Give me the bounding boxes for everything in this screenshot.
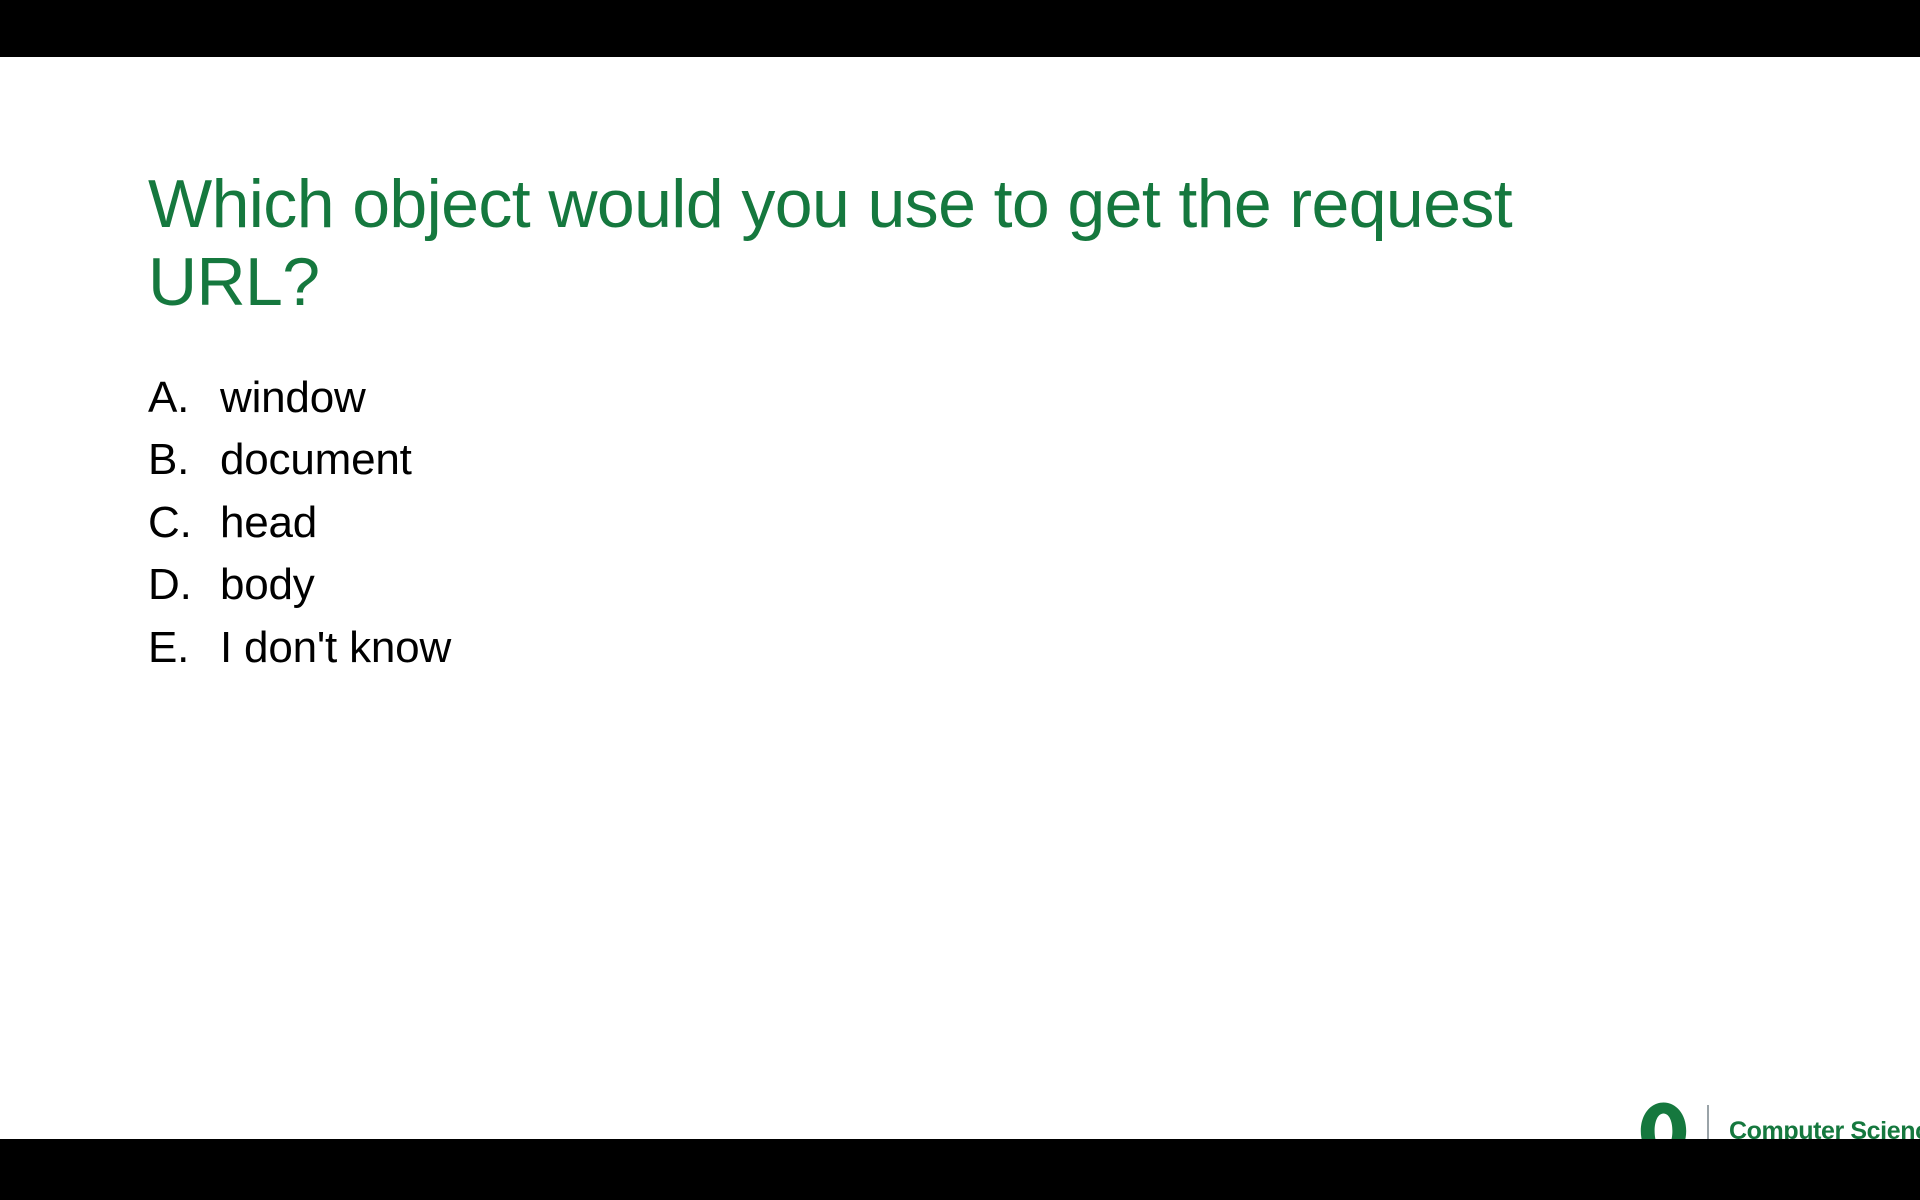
- slide-title: Which object would you use to get the re…: [148, 165, 1608, 323]
- letterbox-bar-bottom: [0, 1139, 1920, 1200]
- answer-label: I don't know: [220, 617, 451, 679]
- answer-option-d[interactable]: D. body: [148, 554, 1448, 616]
- answer-label: head: [220, 492, 317, 554]
- answer-marker: E.: [148, 617, 220, 679]
- answer-marker: C.: [148, 492, 220, 554]
- answer-option-e[interactable]: E. I don't know: [148, 617, 1448, 679]
- answer-marker: B.: [148, 429, 220, 491]
- answer-option-c[interactable]: C. head: [148, 492, 1448, 554]
- answer-marker: A.: [148, 367, 220, 429]
- answer-label: document: [220, 429, 412, 491]
- answer-option-a[interactable]: A. window: [148, 367, 1448, 429]
- answer-marker: D.: [148, 554, 220, 616]
- presentation-slide: Which object would you use to get the re…: [0, 0, 1920, 1200]
- answer-option-b[interactable]: B. document: [148, 429, 1448, 491]
- slide-canvas: Which object would you use to get the re…: [0, 57, 1920, 1139]
- letterbox-bar-top: [0, 0, 1920, 57]
- answer-label: window: [220, 367, 366, 429]
- answer-label: body: [220, 554, 315, 616]
- answer-choice-list: A. window B. document C. head D. body E.…: [148, 367, 1448, 679]
